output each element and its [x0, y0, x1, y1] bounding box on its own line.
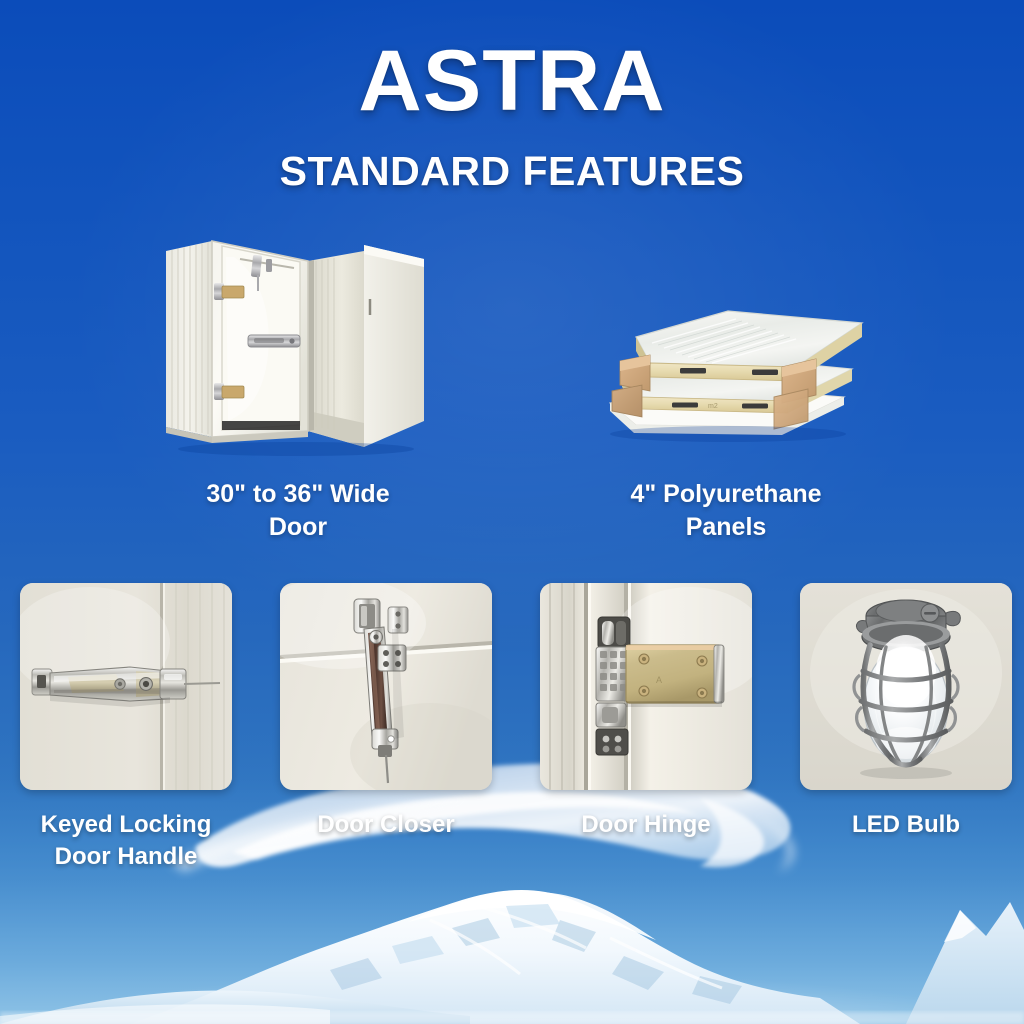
- caption-line-1: 4" Polyurethane: [630, 480, 821, 508]
- feature-keyed-locking-door-handle: Keyed Locking Door Handle: [20, 583, 232, 872]
- feature-door-hinge: A Door Hinge: [540, 583, 752, 872]
- caption-line-2: Door Handle: [55, 843, 198, 870]
- header: ASTRA STANDARD FEATURES: [0, 0, 1024, 195]
- feature-caption: Keyed Locking Door Handle: [20, 809, 232, 872]
- feature-caption: Door Hinge: [540, 809, 752, 841]
- feature-caption: 4" Polyurethane Panels: [571, 478, 881, 543]
- svg-text:m2: m2: [708, 403, 718, 410]
- led-vapor-proof-bulb-photo: [800, 583, 1012, 790]
- door-closer-photo: [280, 583, 492, 790]
- caption-line-1: LED Bulb: [852, 811, 960, 838]
- bottom-feature-row: Keyed Locking Door Handle: [20, 583, 1012, 872]
- feature-led-bulb: LED Bulb: [800, 583, 1012, 872]
- door-hinge-photo: A: [540, 583, 752, 790]
- page-title: ASTRA: [0, 38, 1024, 126]
- page-subtitle: STANDARD FEATURES: [0, 148, 1024, 195]
- insulated-panel-stack-photo: m2: [571, 214, 881, 466]
- keyed-locking-handle-photo: [20, 583, 232, 790]
- feature-caption: LED Bulb: [800, 809, 1012, 841]
- caption-line-2: Panels: [686, 513, 767, 541]
- top-feature-row: 30" to 36" Wide Door: [0, 214, 1024, 543]
- feature-door-closer: Door Closer: [280, 583, 492, 872]
- caption-line-1: Keyed Locking: [41, 811, 212, 838]
- svg-text:A: A: [656, 675, 662, 685]
- caption-line-1: Door Closer: [317, 811, 454, 838]
- walk-in-cooler-photo: [143, 214, 453, 466]
- feature-polyurethane-panels: m2: [571, 214, 881, 543]
- feature-caption: Door Closer: [280, 809, 492, 841]
- feature-walk-in-door: 30" to 36" Wide Door: [143, 214, 453, 543]
- caption-line-1: 30" to 36" Wide: [206, 480, 389, 508]
- caption-line-2: Door: [269, 513, 327, 541]
- feature-caption: 30" to 36" Wide Door: [143, 478, 453, 543]
- caption-line-1: Door Hinge: [581, 811, 710, 838]
